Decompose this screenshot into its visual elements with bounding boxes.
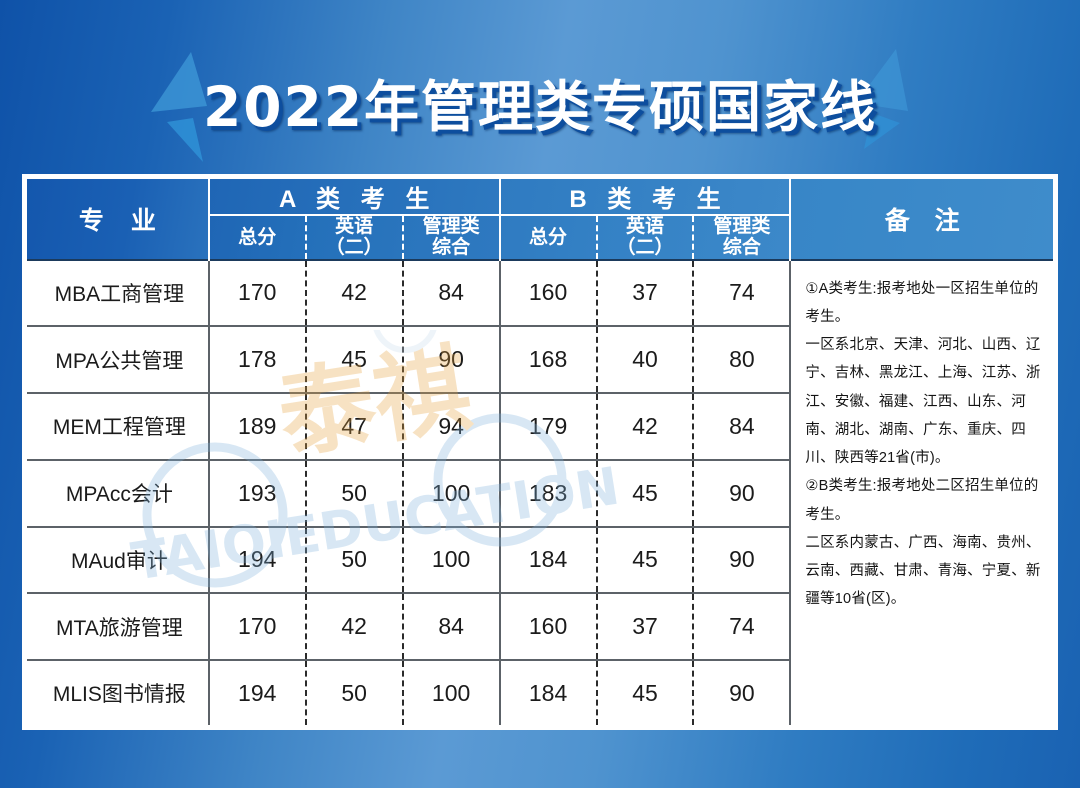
header-b-english-line1: 英语 — [598, 216, 693, 237]
major: MPAcc会计 — [27, 460, 209, 527]
header-a-english: 英语 （二） — [306, 215, 403, 260]
major: MBA工商管理 — [27, 260, 209, 327]
header-group-b: B 类 考 生 — [500, 179, 791, 215]
cell-a-total: 194 — [209, 527, 306, 594]
cell-a-comp: 100 — [403, 660, 500, 725]
header-b-comprehensive: 管理类 综合 — [693, 215, 790, 260]
cell-a-comp: 94 — [403, 393, 500, 460]
cell-a-english: 50 — [306, 460, 403, 527]
remark-text: ①A类考生:报考地处一区招生单位的考生。一区系北京、天津、河北、山西、辽宁、吉林… — [805, 275, 1041, 614]
cell-b-comp: 74 — [693, 593, 790, 660]
header-a-comp-line1: 管理类 — [404, 216, 499, 237]
table-row: MBA工商管理17042841603774①A类考生:报考地处一区招生单位的考生… — [27, 260, 1053, 327]
cell-a-english: 42 — [306, 593, 403, 660]
cell-a-total: 193 — [209, 460, 306, 527]
header-b-english: 英语 （二） — [597, 215, 694, 260]
cell-a-total: 170 — [209, 260, 306, 327]
cell-b-total: 160 — [500, 593, 597, 660]
cell-b-comp: 80 — [693, 326, 790, 393]
header-a-total: 总分 — [209, 215, 306, 260]
remark-cell: ①A类考生:报考地处一区招生单位的考生。一区系北京、天津、河北、山西、辽宁、吉林… — [790, 260, 1053, 725]
header-b-total: 总分 — [500, 215, 597, 260]
header-a-english-line1: 英语 — [307, 216, 402, 237]
cell-b-total: 183 — [500, 460, 597, 527]
table-body: MBA工商管理17042841603774①A类考生:报考地处一区招生单位的考生… — [27, 260, 1053, 725]
scoreline-table-frame: 专 业 A 类 考 生 B 类 考 生 备 注 总分 英语 （二） 管理类 综合… — [22, 174, 1058, 730]
cell-a-total: 170 — [209, 593, 306, 660]
cell-b-english: 40 — [597, 326, 694, 393]
cell-a-total: 178 — [209, 326, 306, 393]
cell-b-comp: 90 — [693, 527, 790, 594]
page-title: 2022年管理类专硕国家线 — [203, 62, 877, 142]
cell-a-english: 42 — [306, 260, 403, 327]
page-title-wrapper: 2022年管理类专硕国家线 — [0, 62, 1080, 142]
remark-paragraph: ②B类考生:报考地处二区招生单位的考生。 — [805, 472, 1041, 529]
table-header: 专 业 A 类 考 生 B 类 考 生 备 注 总分 英语 （二） 管理类 综合… — [27, 179, 1053, 260]
cell-a-english: 47 — [306, 393, 403, 460]
cell-b-total: 168 — [500, 326, 597, 393]
remark-paragraph: ①A类考生:报考地处一区招生单位的考生。 — [805, 275, 1041, 332]
cell-a-english: 50 — [306, 527, 403, 594]
header-b-comp-line2: 综合 — [694, 237, 789, 258]
cell-b-english: 42 — [597, 393, 694, 460]
cell-b-english: 45 — [597, 660, 694, 725]
major: MAud审计 — [27, 527, 209, 594]
cell-b-english: 37 — [597, 593, 694, 660]
header-group-a: A 类 考 生 — [209, 179, 500, 215]
cell-b-comp: 74 — [693, 260, 790, 327]
remark-paragraph: 一区系北京、天津、河北、山西、辽宁、吉林、黑龙江、上海、江苏、浙江、安徽、福建、… — [805, 331, 1041, 472]
cell-a-english: 45 — [306, 326, 403, 393]
cell-b-comp: 90 — [693, 460, 790, 527]
header-row-groups: 专 业 A 类 考 生 B 类 考 生 备 注 — [27, 179, 1053, 215]
cell-b-english: 45 — [597, 460, 694, 527]
cell-b-total: 184 — [500, 660, 597, 725]
header-remark: 备 注 — [790, 179, 1053, 260]
cell-b-comp: 84 — [693, 393, 790, 460]
cell-a-comp: 90 — [403, 326, 500, 393]
header-b-comp-line1: 管理类 — [694, 216, 789, 237]
header-a-comp-line2: 综合 — [404, 237, 499, 258]
cell-a-total: 189 — [209, 393, 306, 460]
scoreline-table: 专 业 A 类 考 生 B 类 考 生 备 注 总分 英语 （二） 管理类 综合… — [27, 179, 1053, 725]
cell-a-english: 50 — [306, 660, 403, 725]
header-a-comprehensive: 管理类 综合 — [403, 215, 500, 260]
cell-b-total: 179 — [500, 393, 597, 460]
major: MTA旅游管理 — [27, 593, 209, 660]
remark-paragraph: 二区系内蒙古、广西、海南、贵州、云南、西藏、甘肃、青海、宁夏、新疆等10省(区)… — [805, 529, 1041, 614]
cell-b-total: 160 — [500, 260, 597, 327]
major: MEM工程管理 — [27, 393, 209, 460]
cell-a-comp: 100 — [403, 460, 500, 527]
cell-b-comp: 90 — [693, 660, 790, 725]
cell-b-english: 45 — [597, 527, 694, 594]
major: MPA公共管理 — [27, 326, 209, 393]
header-b-english-line2: （二） — [598, 237, 693, 258]
cell-a-comp: 100 — [403, 527, 500, 594]
cell-a-total: 194 — [209, 660, 306, 725]
header-major: 专 业 — [27, 179, 209, 260]
cell-b-total: 184 — [500, 527, 597, 594]
header-a-english-line2: （二） — [307, 237, 402, 258]
major: MLIS图书情报 — [27, 660, 209, 725]
cell-b-english: 37 — [597, 260, 694, 327]
cell-a-comp: 84 — [403, 260, 500, 327]
cell-a-comp: 84 — [403, 593, 500, 660]
